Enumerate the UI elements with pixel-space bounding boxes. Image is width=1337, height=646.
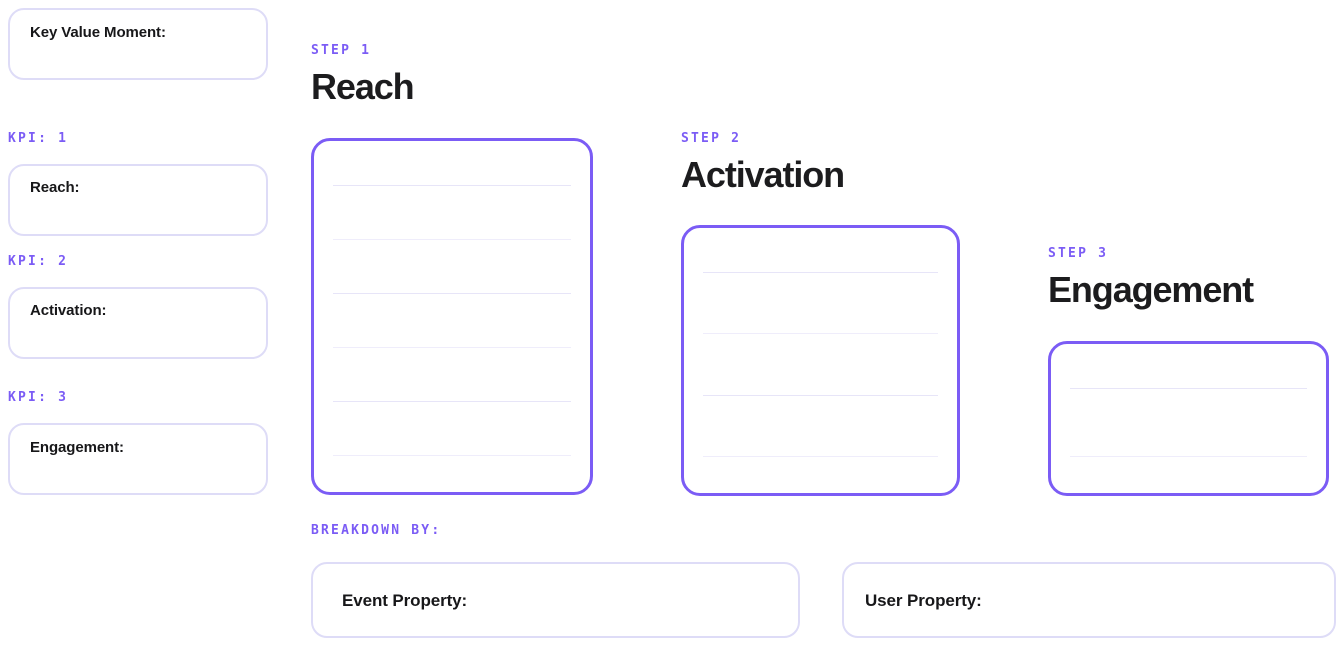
kpi-3-card[interactable] — [8, 423, 268, 495]
kpi-3-label: Engagement: — [30, 439, 124, 456]
kpi-1-eyebrow: KPI: 1 — [8, 131, 68, 146]
worksheet-canvas: Key Value Moment: KPI: 1 Reach: KPI: 2 A… — [0, 0, 1337, 646]
step-1-note-card[interactable] — [311, 138, 593, 495]
step-2-note-card[interactable] — [681, 225, 960, 496]
step-3-eyebrow: STEP 3 — [1048, 246, 1108, 261]
kpi-2-card[interactable] — [8, 287, 268, 359]
step-2-title: Activation — [681, 157, 844, 193]
breakdown-by-eyebrow: BREAKDOWN BY: — [311, 523, 441, 538]
step-1-eyebrow: STEP 1 — [311, 43, 371, 58]
step-3-title: Engagement — [1048, 272, 1253, 308]
event-property-label: Event Property: — [342, 591, 467, 611]
kpi-3-eyebrow: KPI: 3 — [8, 390, 68, 405]
kpi-1-card[interactable] — [8, 164, 268, 236]
step-2-eyebrow: STEP 2 — [681, 131, 741, 146]
kpi-1-label: Reach: — [30, 179, 79, 196]
step-1-title: Reach — [311, 69, 414, 105]
key-value-moment-card[interactable] — [8, 8, 268, 80]
kpi-2-eyebrow: KPI: 2 — [8, 254, 68, 269]
user-property-label: User Property: — [865, 591, 982, 611]
kpi-2-label: Activation: — [30, 302, 106, 319]
key-value-moment-label: Key Value Moment: — [30, 24, 166, 41]
step-3-note-card[interactable] — [1048, 341, 1329, 496]
